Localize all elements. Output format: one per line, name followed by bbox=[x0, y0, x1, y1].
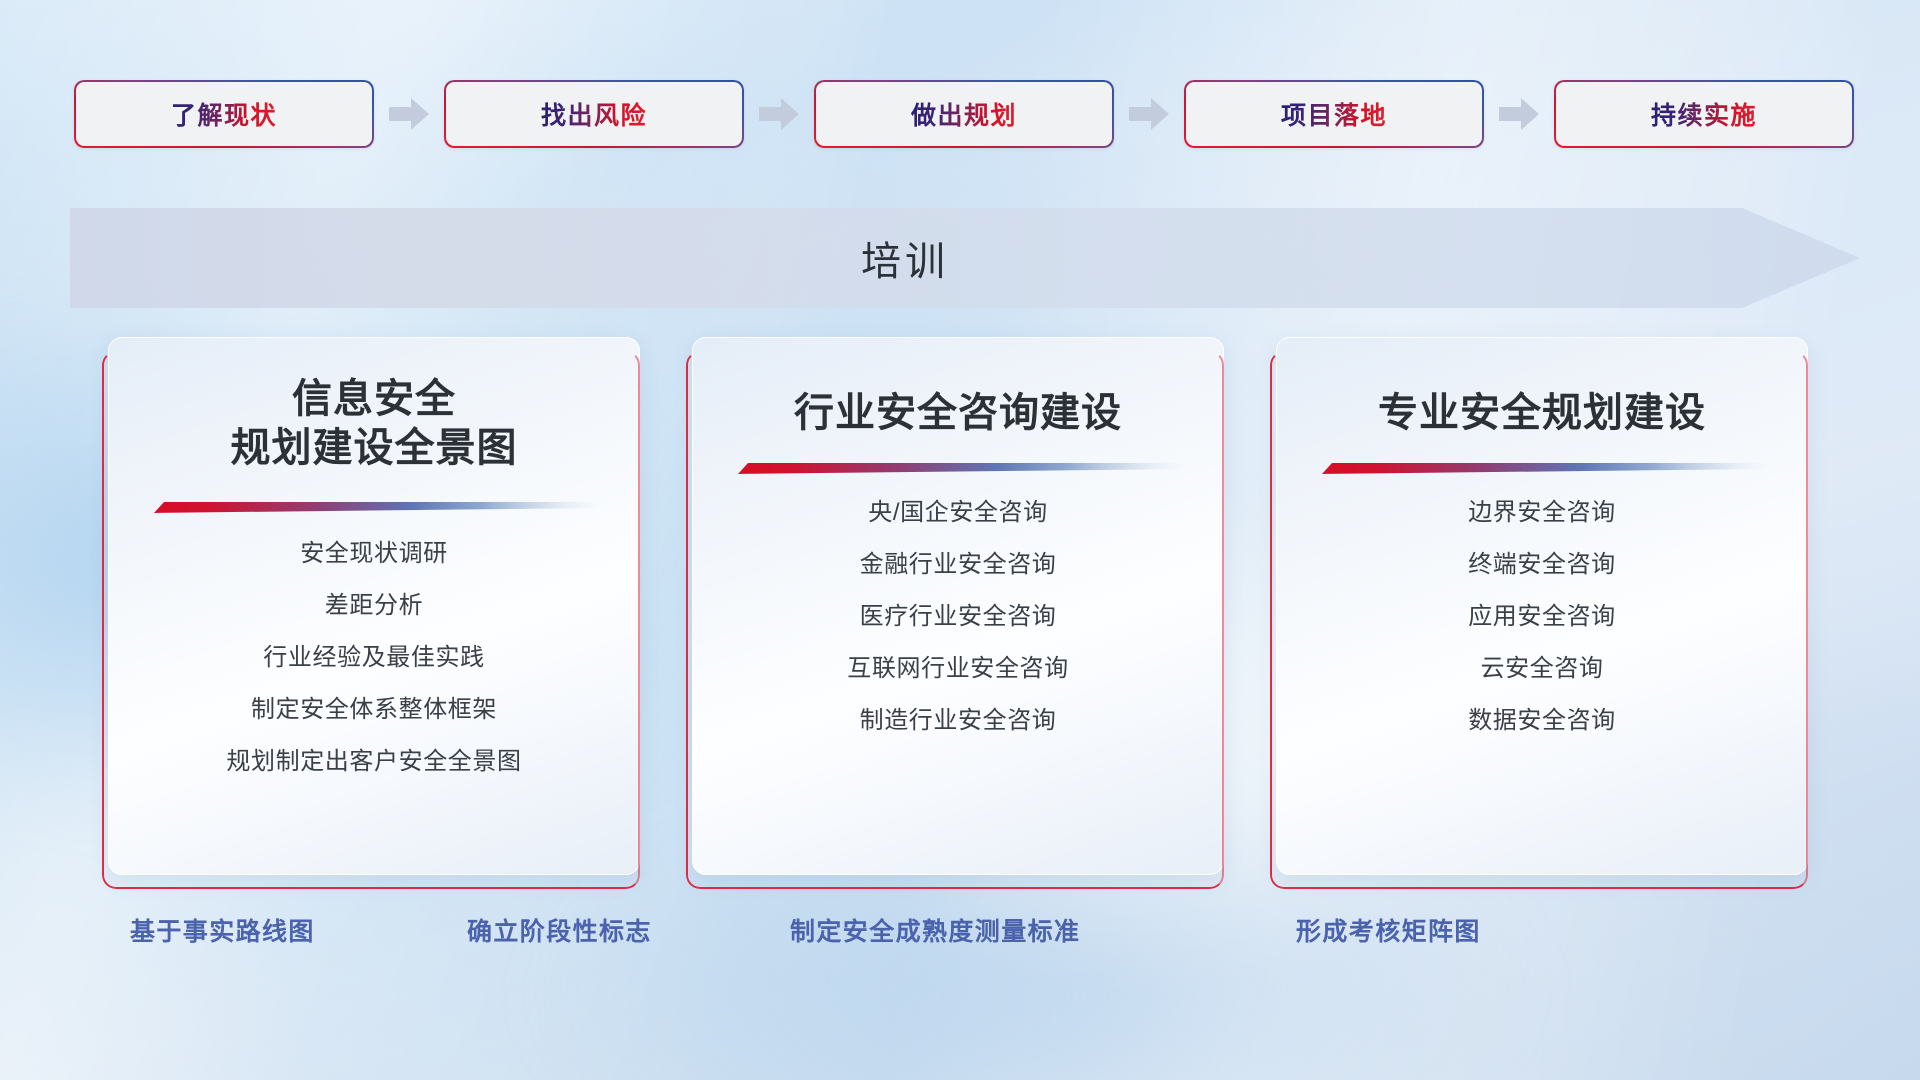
card-item-list: 边界安全咨询终端安全咨询应用安全咨询云安全咨询数据安全咨询 bbox=[1276, 501, 1808, 733]
cards-row: 信息安全 规划建设全景图安全现状调研差距分析行业经验及最佳实践制定安全体系整体框… bbox=[108, 337, 1808, 875]
bottom-label-2: 确立阶段性标志 bbox=[467, 912, 652, 948]
training-banner: 培训 bbox=[70, 208, 1860, 308]
card-list-item[interactable]: 数据安全咨询 bbox=[1468, 709, 1616, 733]
step-box-3[interactable]: 做出规划 bbox=[814, 80, 1114, 148]
card-list-item[interactable]: 制定安全体系整体框架 bbox=[251, 698, 497, 722]
step-label: 做出规划 bbox=[911, 96, 1017, 132]
card-list-item[interactable]: 医疗行业安全咨询 bbox=[860, 605, 1057, 629]
card-title: 信息安全 规划建设全景图 bbox=[231, 375, 518, 473]
bottom-label-3: 制定安全成熟度测量标准 bbox=[790, 912, 1080, 948]
card-list-item[interactable]: 终端安全咨询 bbox=[1468, 553, 1616, 577]
step-label: 找出风险 bbox=[541, 96, 647, 132]
card-list-item[interactable]: 规划制定出客户安全全景图 bbox=[226, 750, 521, 774]
bottom-label-1: 基于事实路线图 bbox=[130, 912, 315, 948]
card-title: 专业安全规划建设 bbox=[1378, 389, 1706, 438]
arrow-right-icon bbox=[1484, 80, 1554, 148]
card-body: 专业安全规划建设边界安全咨询终端安全咨询应用安全咨询云安全咨询数据安全咨询 bbox=[1276, 337, 1808, 875]
step-box-1[interactable]: 了解现状 bbox=[74, 80, 374, 148]
step-box-4[interactable]: 项目落地 bbox=[1184, 80, 1484, 148]
arrow-right-icon bbox=[744, 80, 814, 148]
banner-title: 培训 bbox=[70, 208, 1860, 308]
card-list-item[interactable]: 差距分析 bbox=[325, 594, 423, 618]
card-list-item[interactable]: 安全现状调研 bbox=[300, 542, 448, 566]
gradient-divider-icon bbox=[730, 460, 1186, 477]
service-card-1[interactable]: 信息安全 规划建设全景图安全现状调研差距分析行业经验及最佳实践制定安全体系整体框… bbox=[108, 337, 640, 875]
card-list-item[interactable]: 制造行业安全咨询 bbox=[860, 709, 1057, 733]
process-steps-row: 了解现状找出风险做出规划项目落地持续实施 bbox=[74, 80, 1854, 148]
step-label: 了解现状 bbox=[171, 96, 277, 132]
step-label: 项目落地 bbox=[1281, 96, 1387, 132]
card-list-item[interactable]: 行业经验及最佳实践 bbox=[263, 646, 484, 670]
step-box-5[interactable]: 持续实施 bbox=[1554, 80, 1854, 148]
card-body: 信息安全 规划建设全景图安全现状调研差距分析行业经验及最佳实践制定安全体系整体框… bbox=[108, 337, 640, 875]
gradient-divider-icon bbox=[1314, 460, 1770, 477]
bottom-label-4: 形成考核矩阵图 bbox=[1296, 912, 1481, 948]
arrow-right-icon bbox=[1114, 80, 1184, 148]
card-list-item[interactable]: 应用安全咨询 bbox=[1468, 605, 1616, 629]
service-card-2[interactable]: 行业安全咨询建设央/国企安全咨询金融行业安全咨询医疗行业安全咨询互联网行业安全咨… bbox=[692, 337, 1224, 875]
card-list-item[interactable]: 金融行业安全咨询 bbox=[860, 553, 1057, 577]
card-list-item[interactable]: 云安全咨询 bbox=[1481, 657, 1604, 681]
arrow-right-icon bbox=[374, 80, 444, 148]
step-box-2[interactable]: 找出风险 bbox=[444, 80, 744, 148]
card-list-item[interactable]: 边界安全咨询 bbox=[1468, 501, 1616, 525]
card-title: 行业安全咨询建设 bbox=[794, 389, 1122, 438]
card-body: 行业安全咨询建设央/国企安全咨询金融行业安全咨询医疗行业安全咨询互联网行业安全咨… bbox=[692, 337, 1224, 875]
card-item-list: 央/国企安全咨询金融行业安全咨询医疗行业安全咨询互联网行业安全咨询制造行业安全咨… bbox=[692, 501, 1224, 733]
card-list-item[interactable]: 互联网行业安全咨询 bbox=[847, 657, 1068, 681]
card-list-item[interactable]: 央/国企安全咨询 bbox=[868, 501, 1047, 525]
card-item-list: 安全现状调研差距分析行业经验及最佳实践制定安全体系整体框架规划制定出客户安全全景… bbox=[108, 542, 640, 774]
gradient-divider-icon bbox=[146, 499, 602, 516]
step-label: 持续实施 bbox=[1651, 96, 1757, 132]
service-card-3[interactable]: 专业安全规划建设边界安全咨询终端安全咨询应用安全咨询云安全咨询数据安全咨询 bbox=[1276, 337, 1808, 875]
bottom-labels-row: 基于事实路线图确立阶段性标志制定安全成熟度测量标准形成考核矩阵图 bbox=[0, 912, 1920, 956]
